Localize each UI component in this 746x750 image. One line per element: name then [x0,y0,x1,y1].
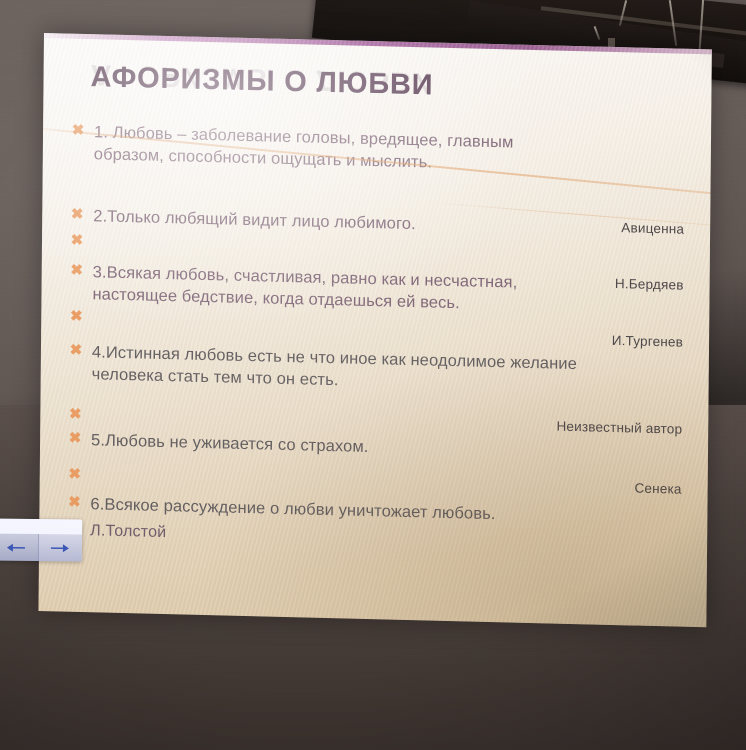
bullet-cross-icon: ✖ [70,208,84,222]
aphorism-text-line: 2.Только любящий видит лицо любимого. [93,206,696,241]
aphorism-list: ✖ 1. Любовь – заболевание головы, вредящ… [38,33,711,627]
list-item: ✖ 1. Любовь – заболевание головы, вредящ… [71,122,697,137]
bullet-row: ✖ Неизвестный автор [68,406,694,421]
bullet-cross-icon: ✖ [68,468,82,482]
bullet-cross-icon: ✖ [68,408,82,422]
bullet-cross-icon: ✖ [68,432,82,446]
bullet-cross-icon: ✖ [70,264,84,278]
bullet-row: ✖ Сенека [68,466,694,481]
list-item: ✖ 2.Только любящий видит лицо любимого. … [70,206,696,221]
bullet-cross-icon: ✖ [67,496,81,510]
aphorism-text-line: 6.Всякое рассуждение о любви уничтожает … [90,494,693,529]
arrow-left-icon [6,541,26,553]
aphorism-text-line: 5.Любовь не уживается со страхом. [91,430,694,465]
prev-slide-button[interactable] [0,534,38,561]
attribution: И.Тургенев [612,333,683,350]
arrow-right-icon [50,542,70,554]
photo-scene: АФОРИЗМЫ О ЛЮБВИ АФОРИЗМЫ О ЛЮБВИ ✖ 1. Л… [0,0,746,750]
list-item: ✖ 6.Всякое рассуждение о любви уничтожае… [68,494,694,509]
bullet-cross-icon: ✖ [69,344,83,358]
bullet-cross-icon: ✖ [69,310,83,324]
slide-content: АФОРИЗМЫ О ЛЮБВИ АФОРИЗМЫ О ЛЮБВИ ✖ 1. Л… [38,33,711,627]
projection-screen: АФОРИЗМЫ О ЛЮБВИ АФОРИЗМЫ О ЛЮБВИ ✖ 1. Л… [38,33,711,627]
bullet-cross-icon: ✖ [71,124,85,138]
attribution: Сенека [634,481,681,497]
next-slide-button[interactable] [37,534,82,561]
attribution: Авиценна [621,220,684,237]
slide-nav-overlay[interactable] [0,519,82,562]
attribution: Неизвестный автор [556,419,682,437]
slide-nav-overlay-top [0,519,82,535]
list-item: ✖ 3.Всякая любовь, счастливая, равно как… [70,262,696,277]
attribution: Н.Бердяев [615,276,684,293]
attribution: Л.Толстой [90,522,166,542]
list-item: ✖ 4.Истинная любовь есть не что иное как… [69,342,695,357]
bullet-cross-icon: ✖ [70,234,84,248]
